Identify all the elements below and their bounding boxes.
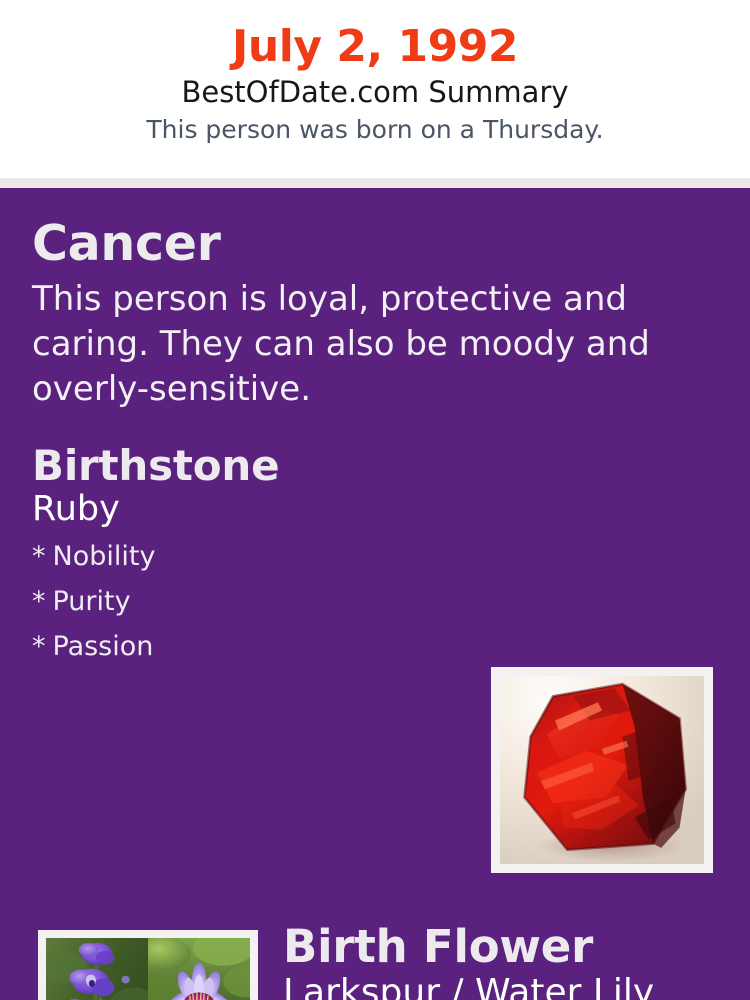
bullet-asterisk-icon: * — [32, 580, 46, 625]
born-day-text: This person was born on a Thursday. — [0, 114, 750, 145]
list-item: *Purity — [32, 580, 750, 625]
birthstone-heading: Birthstone — [32, 444, 750, 488]
birth-flower-photos — [46, 938, 250, 1000]
birthstone-trait-label: Passion — [53, 631, 154, 662]
site-summary-label: BestOfDate.com Summary — [0, 74, 750, 110]
birthstone-trait-label: Nobility — [53, 541, 156, 572]
bullet-asterisk-icon: * — [32, 625, 46, 670]
birth-flower-value: Larkspur / Water Lily — [283, 973, 734, 1000]
birth-flower-photo-frame — [38, 930, 258, 1000]
zodiac-section: Cancer This person is loyal, protective … — [0, 188, 750, 412]
birthstone-trait-label: Purity — [53, 586, 131, 617]
ruby-crystal-image — [500, 676, 704, 864]
page-title-date: July 2, 1992 — [0, 24, 750, 70]
zodiac-sign-heading: Cancer — [32, 218, 720, 269]
birthstone-section: Birthstone Ruby *Nobility *Purity *Passi… — [0, 444, 750, 674]
page-header: July 2, 1992 BestOfDate.com Summary This… — [0, 0, 750, 178]
birth-flower-section: Birth Flower Larkspur / Water Lily *Posi… — [283, 923, 734, 1000]
list-item: *Passion — [32, 625, 750, 670]
water-lily-image — [148, 938, 250, 1000]
birth-flower-heading: Birth Flower — [283, 923, 734, 970]
summary-panel: Cancer This person is loyal, protective … — [0, 188, 750, 1000]
larkspur-image — [46, 938, 148, 1000]
bullet-asterisk-icon: * — [32, 535, 46, 580]
birthstone-photo-frame — [491, 667, 713, 873]
zodiac-description: This person is loyal, protective and car… — [32, 277, 672, 412]
list-item: *Nobility — [32, 535, 750, 580]
header-divider — [0, 178, 750, 188]
birthstone-trait-list: *Nobility *Purity *Passion — [32, 535, 750, 669]
birthstone-value: Ruby — [32, 490, 750, 529]
birthstone-photo — [500, 676, 704, 864]
